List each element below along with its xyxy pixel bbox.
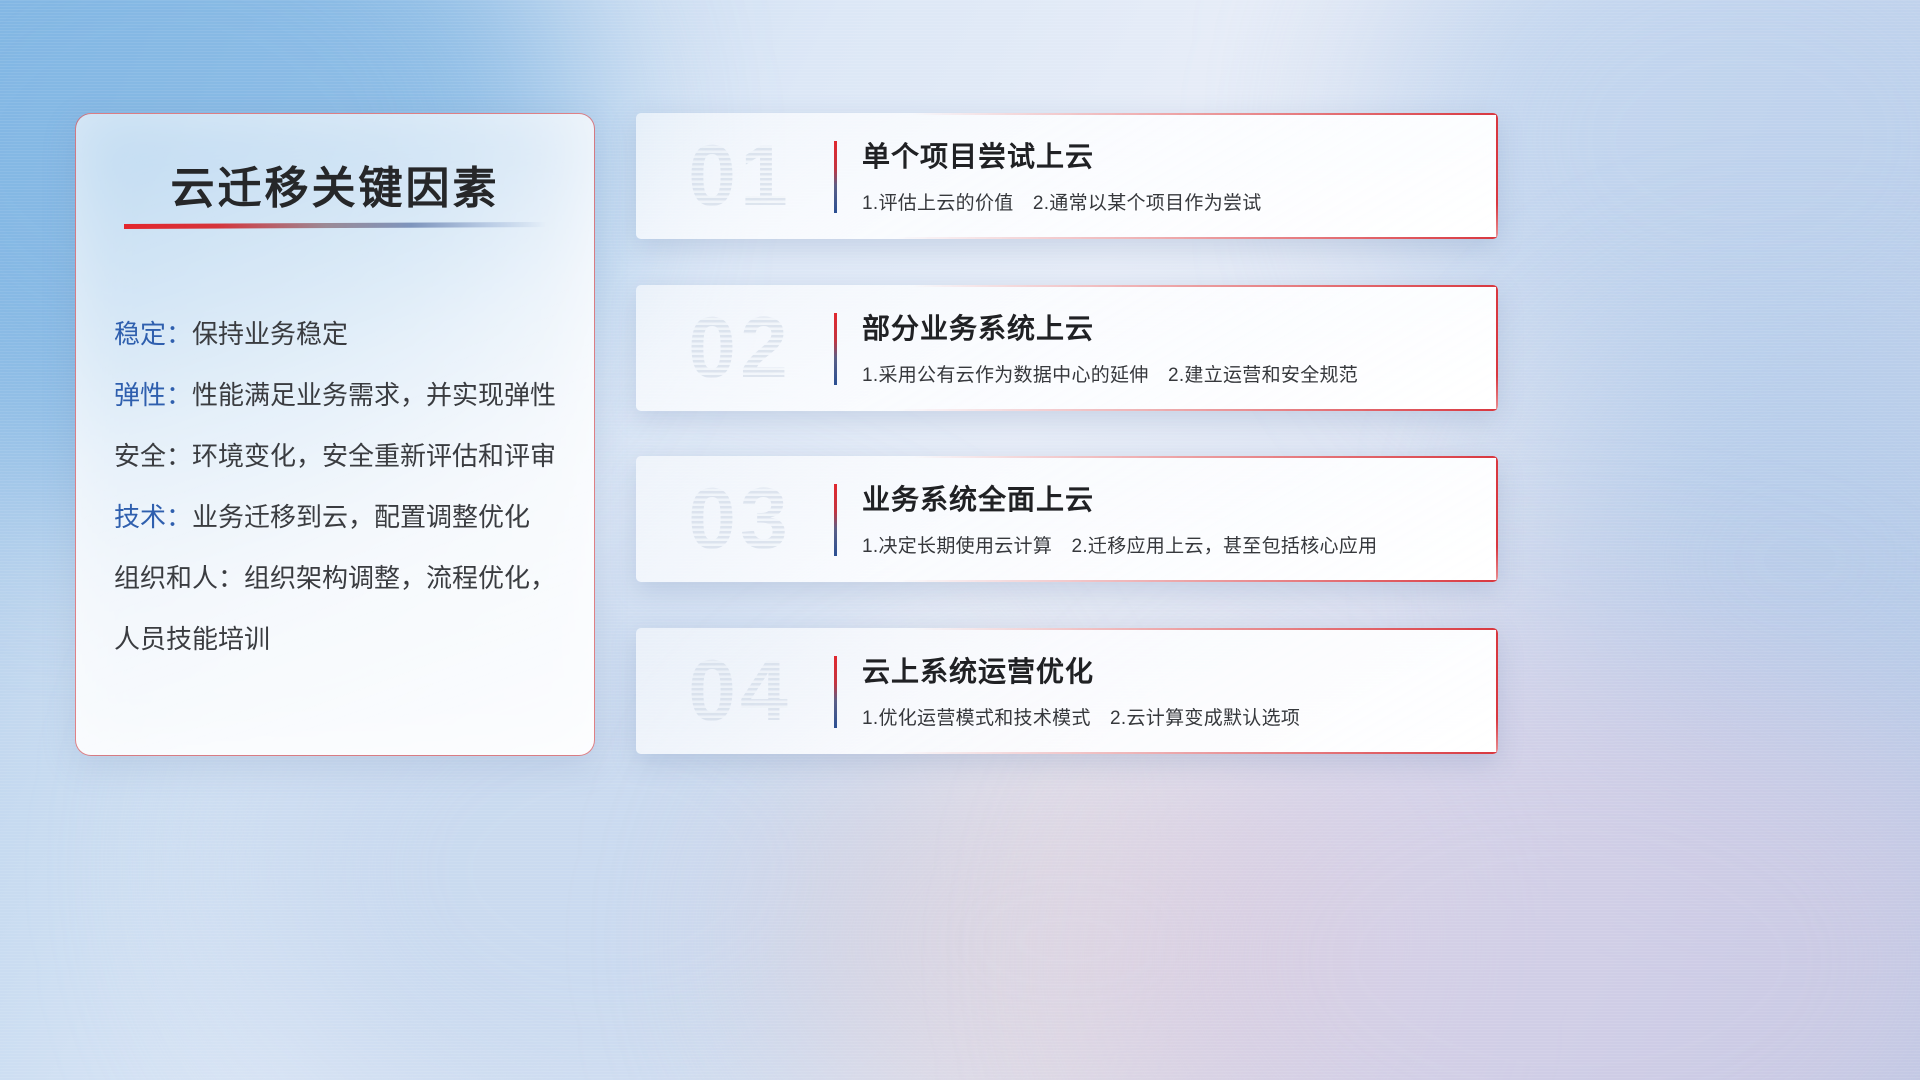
- list-item-text: 性能满足业务需求，并实现弹性: [192, 380, 556, 410]
- list-item-label: 安全：: [114, 441, 192, 471]
- list-item-label: 弹性：: [114, 380, 192, 410]
- stage-number: 04: [660, 638, 820, 744]
- key-factors-panel: 云迁移关键因素 稳定：保持业务稳定 弹性：性能满足业务需求，并实现弹性 安全：环…: [75, 113, 595, 756]
- stage-card[interactable]: 04 云上系统运营优化 1.优化运营模式和技术模式 2.云计算变成默认选项: [636, 628, 1498, 754]
- list-item-label: 组织和人：: [114, 563, 244, 593]
- list-item-text: 业务迁移到云，配置调整优化: [192, 502, 530, 532]
- stage-number: 01: [660, 123, 820, 229]
- key-factors-list: 稳定：保持业务稳定 弹性：性能满足业务需求，并实现弹性 安全：环境变化，安全重新…: [114, 304, 568, 670]
- list-item-text: 保持业务稳定: [192, 319, 348, 349]
- stage-card[interactable]: 03 业务系统全面上云 1.决定长期使用云计算 2.迁移应用上云，甚至包括核心应…: [636, 456, 1498, 582]
- list-item: 弹性：性能满足业务需求，并实现弹性: [114, 365, 568, 426]
- card-bottom-accent: [636, 409, 1498, 411]
- card-bottom-accent: [636, 580, 1498, 582]
- stage-divider-bar: [834, 313, 837, 385]
- list-item: 技术：业务迁移到云，配置调整优化: [114, 487, 568, 548]
- title-underline-rule: [124, 222, 546, 229]
- card-bottom-accent: [636, 237, 1498, 239]
- stage-divider-bar: [834, 141, 837, 213]
- stage-title: 部分业务系统上云: [862, 307, 1094, 347]
- list-item: 人员技能培训: [114, 609, 568, 670]
- stage-description: 1.评估上云的价值 2.通常以某个项目作为尝试: [862, 188, 1262, 215]
- list-item-text: 组织架构调整，流程优化，: [244, 563, 556, 593]
- list-item: 安全：环境变化，安全重新评估和评审: [114, 426, 568, 487]
- stage-card[interactable]: 01 单个项目尝试上云 1.评估上云的价值 2.通常以某个项目作为尝试: [636, 113, 1498, 239]
- stage-title: 单个项目尝试上云: [862, 135, 1094, 175]
- stage-description: 1.决定长期使用云计算 2.迁移应用上云，甚至包括核心应用: [862, 531, 1377, 558]
- stage-number: 03: [660, 466, 820, 572]
- stage-card[interactable]: 02 部分业务系统上云 1.采用公有云作为数据中心的延伸 2.建立运营和安全规范: [636, 285, 1498, 411]
- list-item-text: 环境变化，安全重新评估和评审: [192, 441, 556, 471]
- panel-title: 云迁移关键因素: [76, 152, 594, 216]
- stage-title: 云上系统运营优化: [862, 650, 1094, 690]
- slide-canvas: 云迁移关键因素 稳定：保持业务稳定 弹性：性能满足业务需求，并实现弹性 安全：环…: [0, 0, 1920, 1080]
- stage-divider-bar: [834, 484, 837, 556]
- stage-description: 1.采用公有云作为数据中心的延伸 2.建立运营和安全规范: [862, 360, 1358, 387]
- stage-divider-bar: [834, 656, 837, 728]
- list-item: 组织和人：组织架构调整，流程优化，: [114, 548, 568, 609]
- stage-description: 1.优化运营模式和技术模式 2.云计算变成默认选项: [862, 703, 1300, 730]
- card-bottom-accent: [636, 752, 1498, 754]
- list-item-label: 稳定：: [114, 319, 192, 349]
- list-item-text: 人员技能培训: [114, 624, 270, 654]
- stage-title: 业务系统全面上云: [862, 478, 1094, 518]
- stage-number: 02: [660, 295, 820, 401]
- list-item: 稳定：保持业务稳定: [114, 304, 568, 365]
- list-item-label: 技术：: [114, 502, 192, 532]
